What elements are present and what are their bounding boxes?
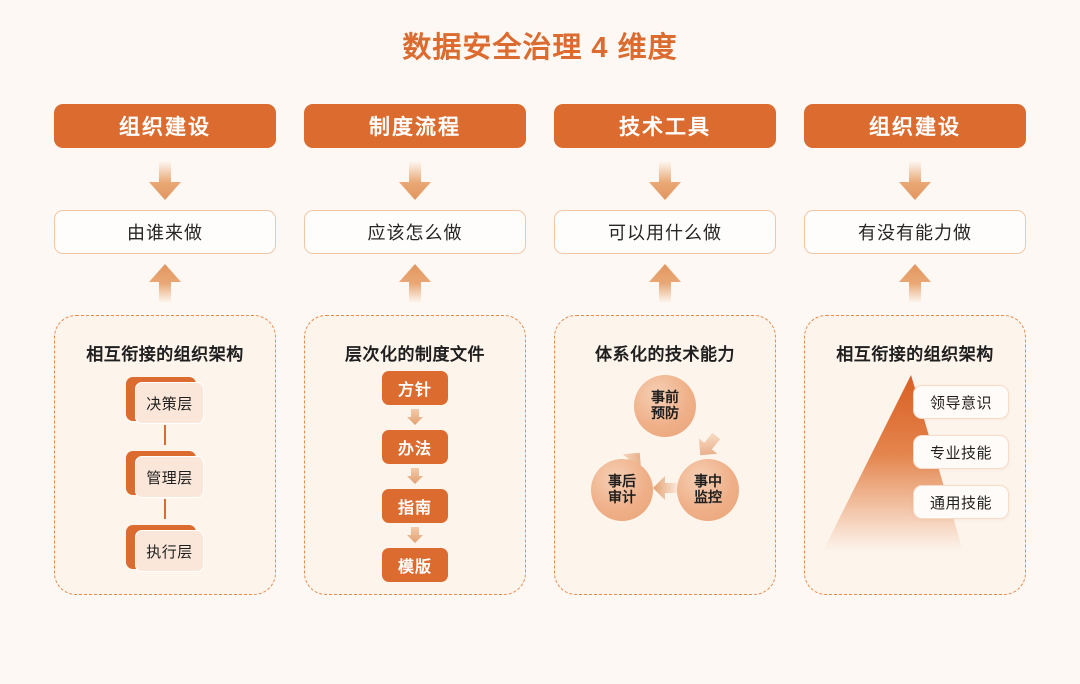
panel-organization: 相互衔接的组织架构 决策层 管理层 [54,315,276,595]
panel-policy: 层次化的制度文件 方针 办法 [304,315,526,595]
panel-body-4: 领导意识 专业技能 通用技能 [805,371,1025,583]
skill-card-professional[interactable]: 专业技能 [913,435,1009,469]
pyramid-wrap: 领导意识 专业技能 通用技能 [805,371,1025,583]
column-header-4[interactable]: 组织建设 [804,104,1026,148]
question-box-3[interactable]: 可以用什么做 [554,210,776,254]
arrow-up-icon-4 [898,263,932,303]
org-connector [164,499,166,519]
doc-box-policy[interactable]: 方针 [382,371,448,405]
circle-line-2: 监控 [694,490,722,506]
column-header-2[interactable]: 制度流程 [304,104,526,148]
circle-line-1: 事前 [651,390,679,406]
arrow-down-icon-1 [148,161,182,201]
diagram-canvas: 数据安全治理 4 维度 组织建设 由谁来做 相互衔接的组织架构 [0,0,1080,684]
doc-flow: 方针 办法 指南 [305,371,525,583]
panel-title-4: 相互衔接的组织架构 [805,340,1025,365]
capability-cycle: 事前 预防 事中 监控 事后 审计 [555,371,775,583]
circle-line-2: 预防 [651,406,679,422]
panel-title-3: 体系化的技术能力 [555,340,775,365]
doc-box-guide[interactable]: 指南 [382,489,448,523]
column-technology: 技术工具 可以用什么做 体系化的技术能力 [554,104,776,595]
panel-body-1: 决策层 管理层 执行层 [55,371,275,583]
mini-arrow-down-icon [406,527,424,544]
column-header-3[interactable]: 技术工具 [554,104,776,148]
arrow-up-icon-2 [398,263,432,303]
cycle-arrow-icon [695,433,721,459]
panel-title-1: 相互衔接的组织架构 [55,340,275,365]
panel-technology: 体系化的技术能力 [554,315,776,595]
cycle-circle-audit[interactable]: 事后 审计 [591,459,653,521]
doc-box-template[interactable]: 模版 [382,548,448,582]
arrow-down-icon-3 [648,161,682,201]
page-title: 数据安全治理 4 维度 [0,24,1080,66]
columns-container: 组织建设 由谁来做 相互衔接的组织架构 [54,104,1026,595]
mini-arrow-down-icon [406,409,424,426]
column-organization: 组织建设 由谁来做 相互衔接的组织架构 [54,104,276,595]
skill-card-leadership[interactable]: 领导意识 [913,385,1009,419]
doc-box-method[interactable]: 办法 [382,430,448,464]
question-box-1[interactable]: 由谁来做 [54,210,276,254]
circle-line-1: 事后 [608,474,636,490]
cycle-circle-prevention[interactable]: 事前 预防 [634,375,696,437]
arrow-up-icon-3 [648,263,682,303]
cycle-arrow-icon [652,475,678,501]
circle-line-2: 审计 [608,490,636,506]
org-card-label: 执行层 [135,530,204,572]
panel-body-2: 方针 办法 指南 [305,371,525,583]
column-capability: 组织建设 有没有能力做 相互衔接的组织架构 [804,104,1026,595]
org-connector [164,425,166,445]
column-header-1[interactable]: 组织建设 [54,104,276,148]
panel-title-2: 层次化的制度文件 [305,340,525,365]
arrow-down-icon-4 [898,161,932,201]
arrow-down-icon-2 [398,161,432,201]
cycle-circle-monitoring[interactable]: 事中 监控 [677,459,739,521]
column-policy: 制度流程 应该怎么做 层次化的制度文件 方针 [304,104,526,595]
org-card-label: 决策层 [135,382,204,424]
circle-line-1: 事中 [694,474,722,490]
question-box-4[interactable]: 有没有能力做 [804,210,1026,254]
skill-card-general[interactable]: 通用技能 [913,485,1009,519]
org-card-decision[interactable]: 决策层 [126,377,204,425]
org-card-label: 管理层 [135,456,204,498]
panel-body-3: 事前 预防 事中 监控 事后 审计 [555,371,775,583]
org-card-execution[interactable]: 执行层 [126,525,204,573]
panel-capability: 相互衔接的组织架构 领导意识 专业技能 通用 [804,315,1026,595]
mini-arrow-down-icon [406,468,424,485]
org-card-management[interactable]: 管理层 [126,451,204,499]
question-box-2[interactable]: 应该怎么做 [304,210,526,254]
org-stack: 决策层 管理层 执行层 [55,371,275,583]
arrow-up-icon-1 [148,263,182,303]
